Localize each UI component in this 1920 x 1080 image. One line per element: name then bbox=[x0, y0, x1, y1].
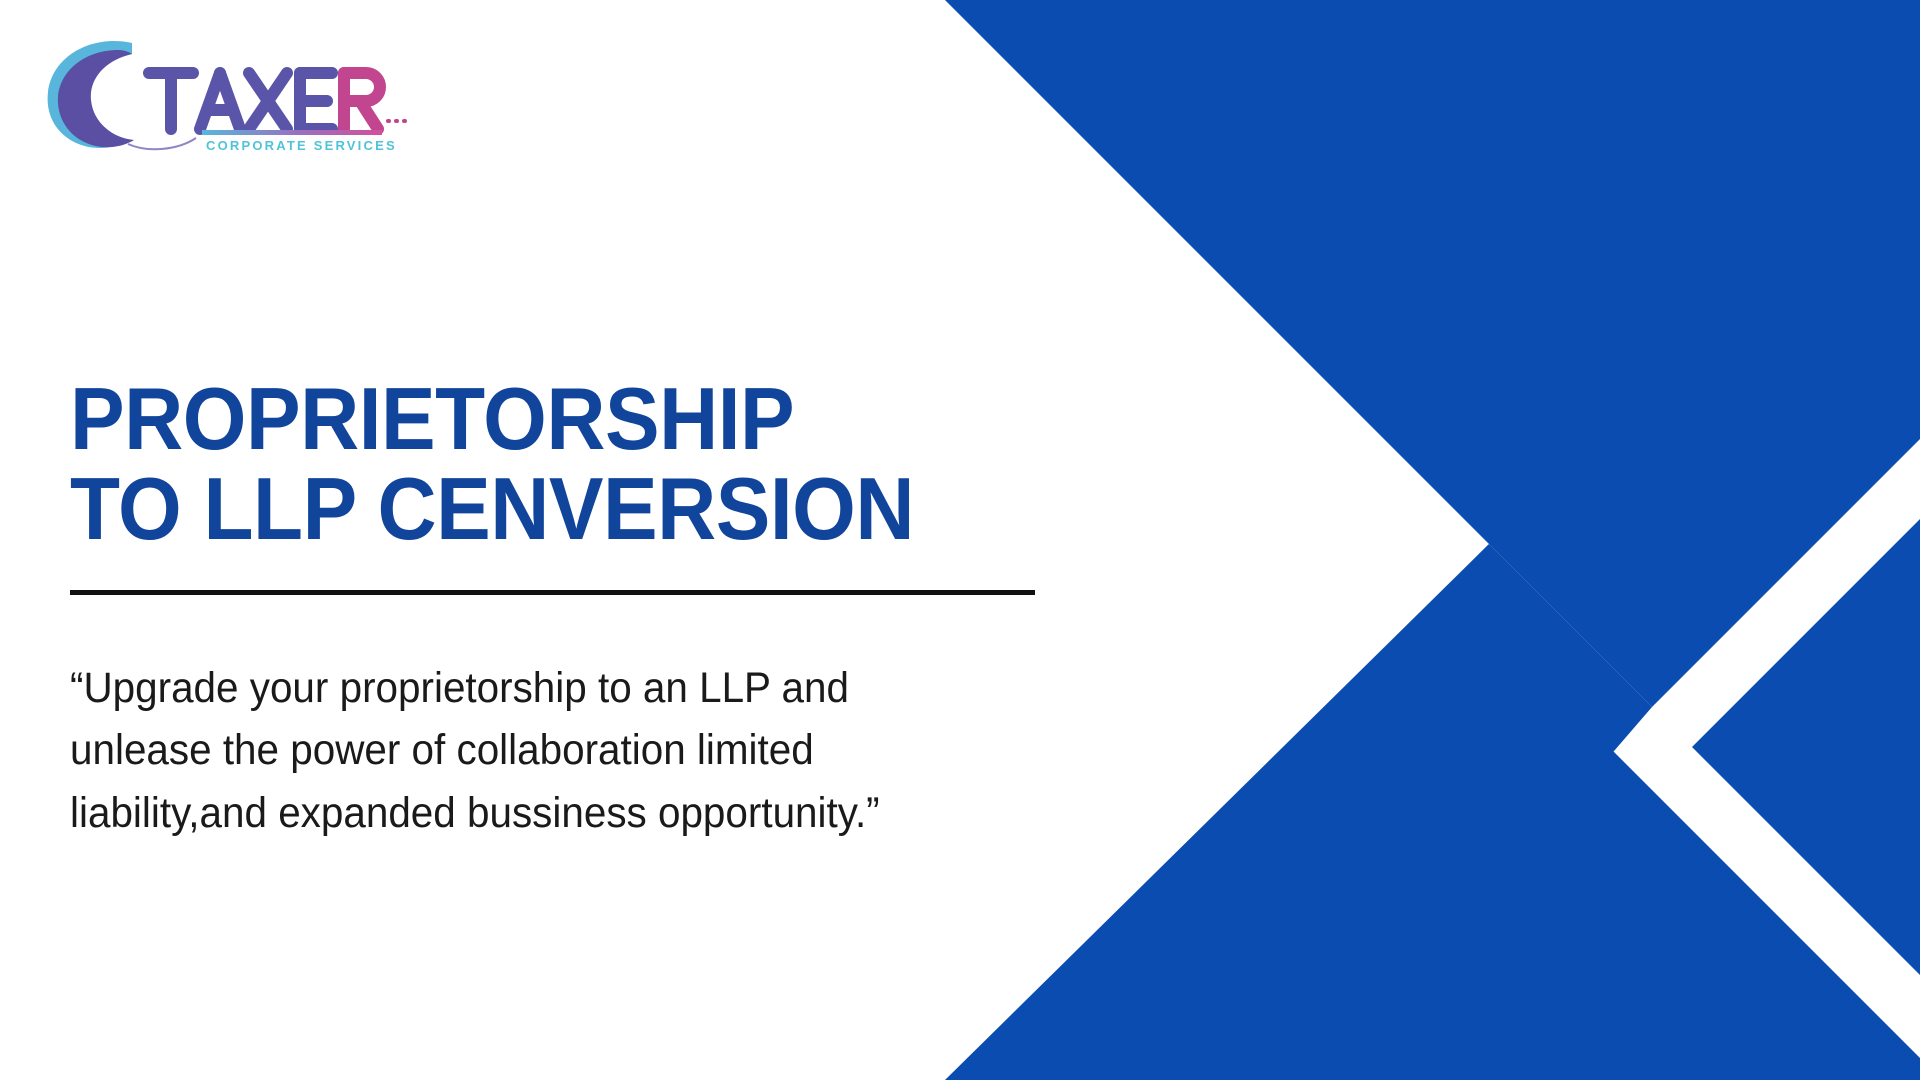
slide-canvas: CORPORATE SERVICES PROPRIETORSHIP TO LLP… bbox=[0, 0, 1920, 1080]
page-title: PROPRIETORSHIP TO LLP CENVERSION bbox=[70, 374, 1000, 554]
logo-swash bbox=[128, 138, 196, 149]
brand-logo[interactable]: CORPORATE SERVICES bbox=[36, 26, 416, 154]
content-block: PROPRIETORSHIP TO LLP CENVERSION “Upgrad… bbox=[70, 374, 1070, 845]
logo-tagline-rule bbox=[202, 130, 382, 135]
logo-letter-T bbox=[149, 73, 193, 129]
subtitle-quote: “Upgrade your proprietorship to an LLP a… bbox=[70, 657, 916, 845]
logo-letter-X bbox=[249, 73, 287, 129]
title-divider-rule bbox=[70, 590, 1035, 595]
logo-letter-E bbox=[300, 73, 332, 129]
logo-letter-A bbox=[200, 73, 240, 129]
crescent-swoosh-mark bbox=[48, 41, 134, 148]
logo-tagline: CORPORATE SERVICES bbox=[206, 138, 397, 153]
brand-logo-artwork: CORPORATE SERVICES bbox=[36, 26, 416, 154]
logo-letter-R bbox=[344, 73, 380, 129]
